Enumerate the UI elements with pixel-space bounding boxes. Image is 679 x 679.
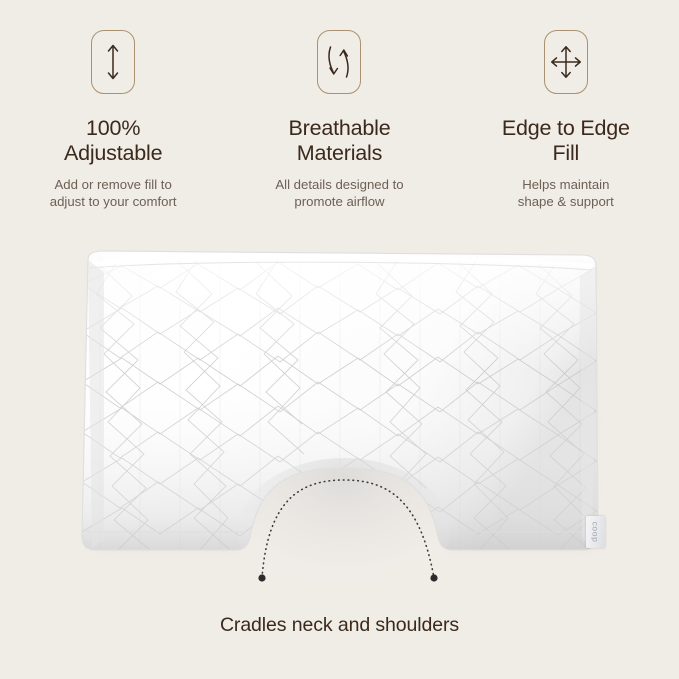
arc-endpoint-left	[258, 574, 265, 581]
feature-subtext-line2: shape & support	[518, 194, 614, 209]
arc-endpoint-right	[430, 574, 437, 581]
feature-list: 100% Adjustable Add or remove fill to ad…	[0, 0, 679, 211]
feature-title: Breathable Materials	[288, 116, 390, 167]
feature-title-line1: Breathable	[288, 116, 390, 140]
airflow-curved-arrows-icon	[317, 30, 361, 94]
feature-breathable: Breathable Materials All details designe…	[226, 30, 452, 211]
feature-subtext-line2: adjust to your comfort	[50, 194, 177, 209]
vertical-double-arrow-icon	[91, 30, 135, 94]
feature-title-line1: Edge to Edge	[502, 116, 630, 140]
feature-edge-to-edge-fill: Edge to Edge Fill Helps maintain shape &…	[453, 30, 679, 211]
product-caption: Cradles neck and shoulders	[0, 614, 679, 637]
feature-title-line2: Adjustable	[64, 141, 162, 165]
feature-adjustable: 100% Adjustable Add or remove fill to ad…	[0, 30, 226, 211]
pillow-body	[80, 250, 600, 602]
feature-title: 100% Adjustable	[64, 116, 162, 167]
feature-title-line1: 100%	[86, 116, 140, 140]
feature-subtext: Helps maintain shape & support	[518, 176, 614, 211]
feature-title-line2: Fill	[552, 141, 579, 165]
feature-subtext-line1: Helps maintain	[522, 177, 609, 192]
feature-subtext-line1: Add or remove fill to	[55, 177, 172, 192]
feature-subtext-line2: promote airflow	[294, 194, 384, 209]
feature-subtext: All details designed to promote airflow	[275, 176, 403, 211]
feature-title-line2: Materials	[297, 141, 382, 165]
feature-subtext: Add or remove fill to adjust to your com…	[50, 176, 177, 211]
product-image: coop	[0, 232, 679, 602]
four-way-arrow-icon	[544, 30, 588, 94]
feature-subtext-line1: All details designed to	[275, 177, 403, 192]
feature-title: Edge to Edge Fill	[502, 116, 630, 167]
brand-tag: coop	[586, 516, 605, 548]
brand-tag-label: coop	[591, 522, 601, 543]
pillow-illustration	[0, 232, 679, 602]
